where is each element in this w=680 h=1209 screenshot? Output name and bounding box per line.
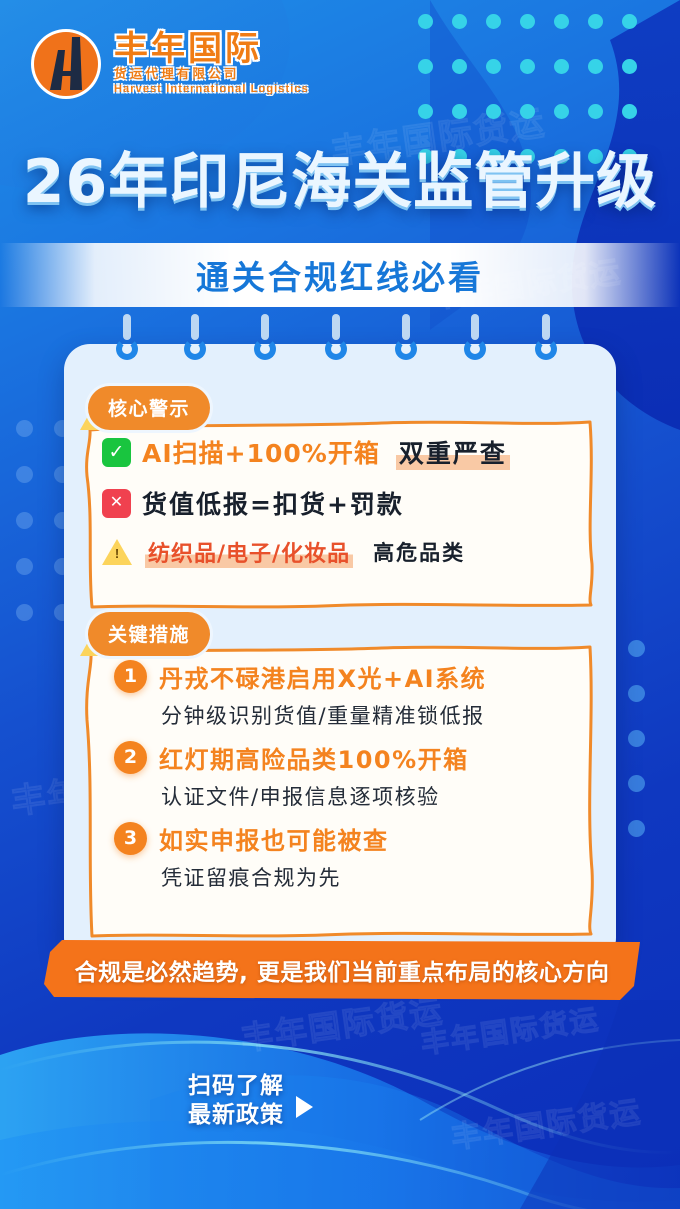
measure-items: 1 丹戎不碌港启用X光+AI系统 分钟级识别货值/重量精准锁低报 2 红灯期高险… xyxy=(82,640,598,892)
measure-number: 2 xyxy=(114,741,147,774)
warning-rows: ✓ AI扫描+100%开箱 双重严查 ✕ 货值低报=扣货+罚款 纺织品/电子/化… xyxy=(82,414,598,568)
harvest-logo-icon xyxy=(28,26,104,102)
warning-panel: ✓ AI扫描+100%开箱 双重严查 ✕ 货值低报=扣货+罚款 纺织品/电子/化… xyxy=(82,414,598,610)
measure-number: 3 xyxy=(114,822,147,855)
measure-item: 1 丹戎不碌港启用X光+AI系统 xyxy=(114,659,582,694)
footer-text-block: 扫码了解 最新政策 xyxy=(188,1072,284,1131)
brand-wordmark: 丰年国际 货运代理有限公司 Harvest International Logi… xyxy=(114,32,309,96)
footer-cta[interactable]: 扫码了解 最新政策 xyxy=(188,1072,313,1131)
measure-detail: 凭证留痕合规为先 xyxy=(161,862,582,892)
measure-detail: 分钟级识别货值/重量精准锁低报 xyxy=(161,700,582,730)
warning-row-primary: AI扫描+100%开箱 xyxy=(142,434,380,470)
badge-key-measures: 关键措施 xyxy=(80,612,210,656)
warning-row: ✓ AI扫描+100%开箱 双重严查 xyxy=(102,434,580,470)
footer-line-2: 最新政策 xyxy=(188,1101,284,1130)
watermark-text: 丰年国际货运 xyxy=(448,1087,644,1157)
measures-panel: 1 丹戎不碌港启用X光+AI系统 分钟级识别货值/重量精准锁低报 2 红灯期高险… xyxy=(82,640,598,940)
highlight-banner: 合规是必然趋势, 更是我们当前重点布局的核心方向 xyxy=(44,940,640,1000)
brand-logo: 丰年国际 货运代理有限公司 Harvest International Logi… xyxy=(28,26,309,102)
measure-detail: 认证文件/申报信息逐项核验 xyxy=(161,781,582,811)
warning-triangle-icon xyxy=(102,539,132,565)
page-title: 26年印尼海关监管升级 xyxy=(0,152,680,212)
measure-heading: 红灯期高险品类100%开箱 xyxy=(159,740,469,775)
check-box-icon: ✓ xyxy=(102,438,131,467)
brand-name-en: Harvest International Logistics xyxy=(114,83,309,96)
brand-name-sub-cn: 货运代理有限公司 xyxy=(114,67,309,81)
subtitle-band: 通关合规红线必看 xyxy=(0,243,680,307)
badge-pill: 关键措施 xyxy=(88,612,210,656)
measure-item: 3 如实申报也可能被查 xyxy=(114,821,582,856)
warning-row-secondary: 双重严查 xyxy=(396,434,510,470)
footer-line-1: 扫码了解 xyxy=(188,1072,284,1101)
banner-text: 合规是必然趋势, 更是我们当前重点布局的核心方向 xyxy=(44,940,640,1000)
badge-core-warning-label: 核心警示 xyxy=(108,398,190,420)
measure-heading: 如实申报也可能被查 xyxy=(159,821,389,856)
play-triangle-icon[interactable] xyxy=(296,1096,313,1118)
brand-name-cn: 丰年国际 xyxy=(114,32,309,66)
poster-root: 丰年国际货运 丰年国际货运 丰年国际货运 丰年国际货运 丰年国际货运 丰年国际货… xyxy=(0,0,680,1209)
page-subtitle: 通关合规红线必看 xyxy=(196,251,484,299)
warning-row-secondary: 货值低报=扣货+罚款 xyxy=(142,485,404,521)
warning-row: ✕ 货值低报=扣货+罚款 xyxy=(102,485,580,521)
badge-core-warning: 核心警示 xyxy=(80,386,210,430)
measure-number: 1 xyxy=(114,660,147,693)
notebook-card: 核心警示 ✓ AI扫描+100%开箱 双重严查 ✕ 货值低报=扣货+罚款 xyxy=(64,344,616,964)
warning-row-secondary: 高危品类 xyxy=(373,537,465,567)
badge-key-measures-label: 关键措施 xyxy=(108,624,190,646)
watermark-text: 丰年国际货运 xyxy=(418,998,602,1063)
warning-row: 纺织品/电子/化妆品 高危品类 xyxy=(102,536,580,568)
badge-pill: 核心警示 xyxy=(88,386,210,430)
measure-item: 2 红灯期高险品类100%开箱 xyxy=(114,740,582,775)
cross-box-icon: ✕ xyxy=(102,489,131,518)
measure-heading: 丹戎不碌港启用X光+AI系统 xyxy=(159,659,486,694)
warning-row-primary: 纺织品/电子/化妆品 xyxy=(145,536,353,568)
spiral-rings xyxy=(64,328,616,368)
